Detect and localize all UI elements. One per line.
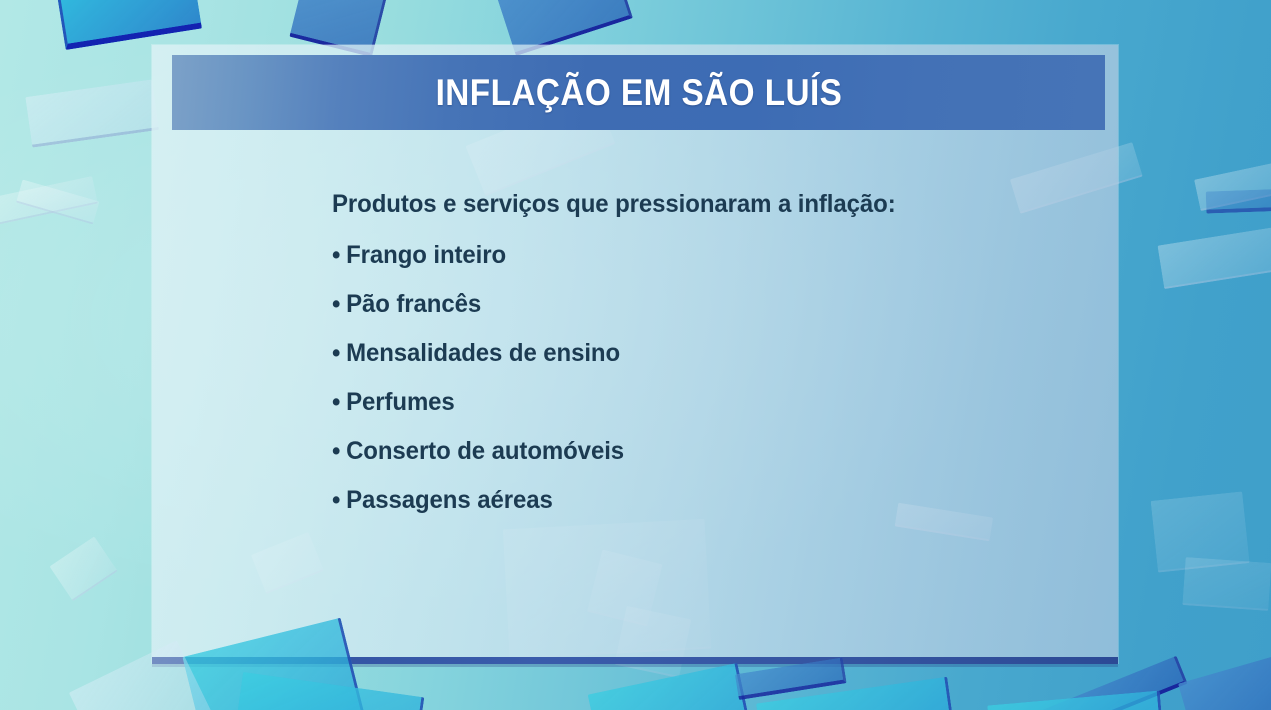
list-item-label: Perfumes	[346, 388, 455, 416]
list-item-label: Mensalidades de ensino	[346, 339, 620, 367]
list-item: •Conserto de automóveis	[332, 439, 1004, 464]
bullet-icon: •	[332, 437, 340, 465]
list-lead-text: Produtos e serviços que pressionaram a i…	[332, 192, 1004, 217]
decor-plate-right-lower-3	[1183, 557, 1271, 609]
title-bar: INFLAÇÃO EM SÃO LUÍS	[172, 55, 1105, 130]
list-item-label: Conserto de automóveis	[346, 437, 624, 465]
page-title: INFLAÇÃO EM SÃO LUÍS	[435, 72, 842, 114]
list-item: •Mensalidades de ensino	[332, 341, 1004, 366]
list-item-label: Passagens aéreas	[346, 486, 553, 514]
bullet-list-container: Produtos e serviços que pressionaram a i…	[332, 192, 1032, 537]
bullet-icon: •	[332, 486, 340, 514]
bullet-icon: •	[332, 290, 340, 318]
bullet-icon: •	[332, 388, 340, 416]
decor-plate-right-upper-3	[1206, 188, 1271, 209]
bullet-icon: •	[332, 241, 340, 269]
list-item: •Passagens aéreas	[332, 488, 1004, 513]
list-item: •Frango inteiro	[332, 243, 1004, 268]
list-item-label: Pão francês	[346, 290, 481, 318]
list-item-label: Frango inteiro	[346, 241, 506, 269]
list-item: •Perfumes	[332, 390, 1004, 415]
list-item: •Pão francês	[332, 292, 1004, 317]
bullet-icon: •	[332, 339, 340, 367]
